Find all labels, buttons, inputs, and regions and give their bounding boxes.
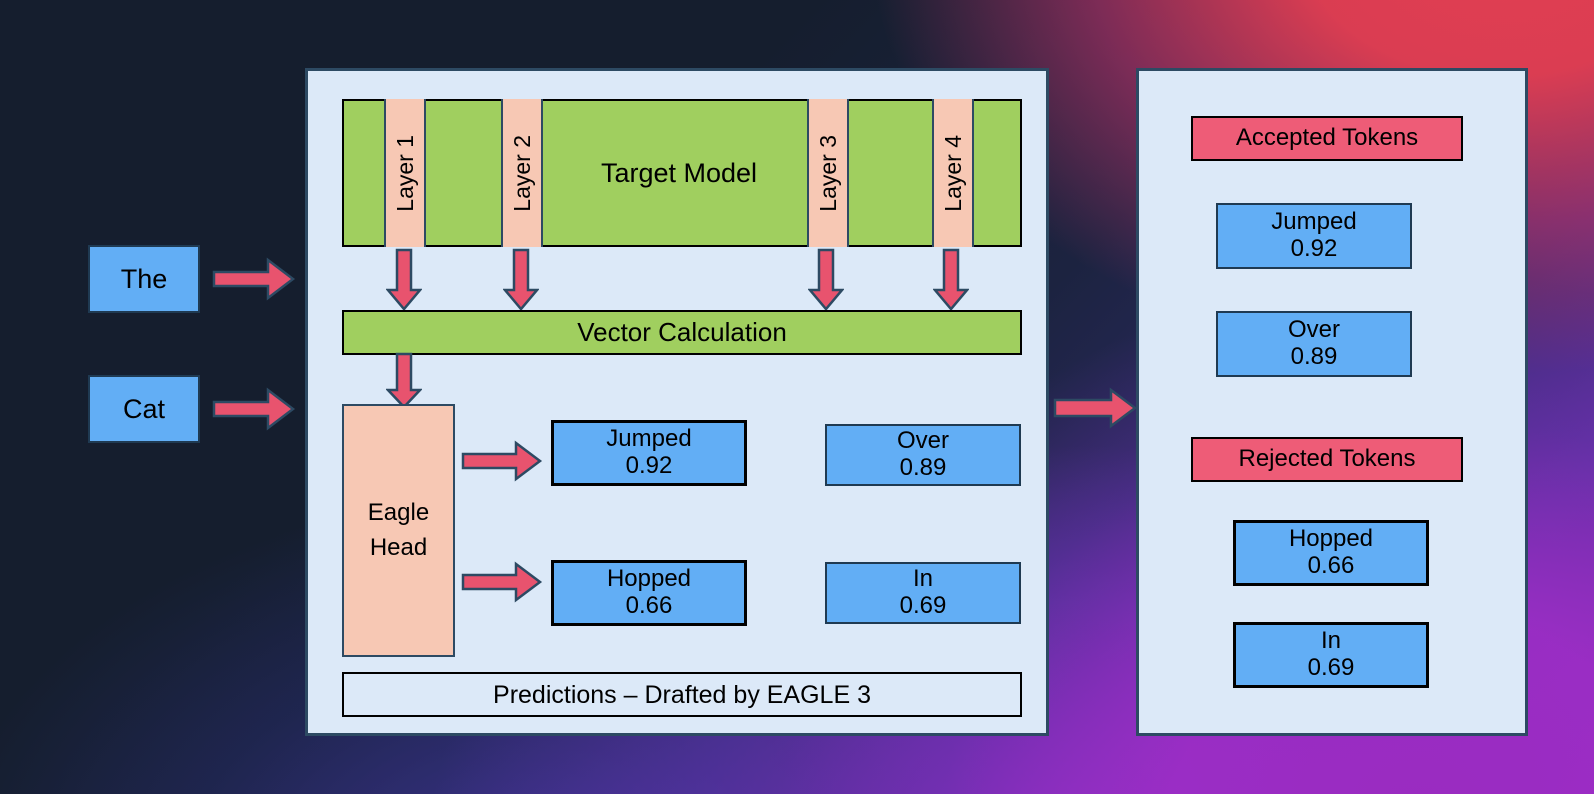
arrow-the-to-model	[212, 256, 296, 302]
prediction-in-score: 0.69	[900, 593, 947, 620]
rejected-in-score: 0.69	[1308, 655, 1355, 682]
accepted-token-over: Over 0.89	[1216, 311, 1412, 377]
prediction-jumped-word: Jumped	[606, 426, 691, 453]
arrow-layer-1-down	[386, 248, 422, 312]
arrow-cat-to-model	[212, 386, 296, 432]
prediction-token-over: Over 0.89	[825, 424, 1021, 486]
draft-panel-footer-label: Predictions – Drafted by EAGLE 3	[493, 681, 871, 709]
input-token-cat: Cat	[88, 375, 200, 443]
target-model-layer-4: Layer 4	[932, 99, 974, 247]
rejected-hopped-score: 0.66	[1308, 553, 1355, 580]
arrow-draft-to-verify	[1053, 387, 1138, 429]
rejected-tokens-heading: Rejected Tokens	[1191, 437, 1463, 482]
target-model-label: Target Model	[601, 158, 757, 189]
arrow-layer-2-down	[503, 248, 539, 312]
target-model-layer-2: Layer 2	[501, 99, 543, 247]
vector-calculation-label: Vector Calculation	[577, 318, 787, 347]
rejected-in-word: In	[1321, 628, 1341, 655]
rejected-tokens-heading-label: Rejected Tokens	[1239, 446, 1416, 473]
arrow-eagle-to-hopped	[461, 561, 543, 603]
diagram-canvas: The Cat Layer 1 Layer 2 Layer 3 Layer 4 …	[0, 0, 1594, 794]
accepted-token-jumped: Jumped 0.92	[1216, 203, 1412, 269]
target-model-layer-1: Layer 1	[384, 99, 426, 247]
prediction-hopped-score: 0.66	[626, 593, 673, 620]
vector-calculation-bar: Vector Calculation	[342, 310, 1022, 355]
layer-1-label: Layer 1	[392, 135, 419, 212]
input-token-the: The	[88, 245, 200, 313]
prediction-jumped-score: 0.92	[626, 453, 673, 480]
target-model-layer-3: Layer 3	[807, 99, 849, 247]
input-token-the-label: The	[121, 264, 168, 294]
rejected-token-in: In 0.69	[1233, 622, 1429, 688]
eagle-head-label-line1: Eagle	[368, 500, 429, 527]
accepted-tokens-heading: Accepted Tokens	[1191, 116, 1463, 161]
arrow-vector-to-eagle-head	[386, 352, 422, 410]
accepted-jumped-word: Jumped	[1271, 209, 1356, 236]
layer-3-label: Layer 3	[815, 135, 842, 212]
prediction-token-jumped: Jumped 0.92	[551, 420, 747, 486]
prediction-over-score: 0.89	[900, 455, 947, 482]
layer-4-label: Layer 4	[940, 135, 967, 212]
prediction-in-word: In	[913, 566, 933, 593]
layer-2-label: Layer 2	[509, 135, 536, 212]
prediction-over-word: Over	[897, 428, 949, 455]
target-model-strip: Layer 1 Layer 2 Layer 3 Layer 4 Target M…	[342, 99, 1022, 247]
arrow-eagle-to-jumped	[461, 440, 543, 482]
rejected-hopped-word: Hopped	[1289, 526, 1373, 553]
draft-panel-footer: Predictions – Drafted by EAGLE 3	[342, 672, 1022, 717]
prediction-hopped-word: Hopped	[607, 566, 691, 593]
prediction-token-in: In 0.69	[825, 562, 1021, 624]
eagle-head-label-line2: Head	[370, 535, 427, 562]
accepted-jumped-score: 0.92	[1291, 236, 1338, 263]
input-token-cat-label: Cat	[123, 394, 165, 424]
accepted-over-word: Over	[1288, 317, 1340, 344]
prediction-token-hopped: Hopped 0.66	[551, 560, 747, 626]
arrow-layer-4-down	[933, 248, 969, 312]
rejected-token-hopped: Hopped 0.66	[1233, 520, 1429, 586]
accepted-tokens-heading-label: Accepted Tokens	[1236, 125, 1418, 152]
eagle-head-block: Eagle Head	[342, 404, 455, 657]
accepted-over-score: 0.89	[1291, 344, 1338, 371]
arrow-layer-3-down	[808, 248, 844, 312]
